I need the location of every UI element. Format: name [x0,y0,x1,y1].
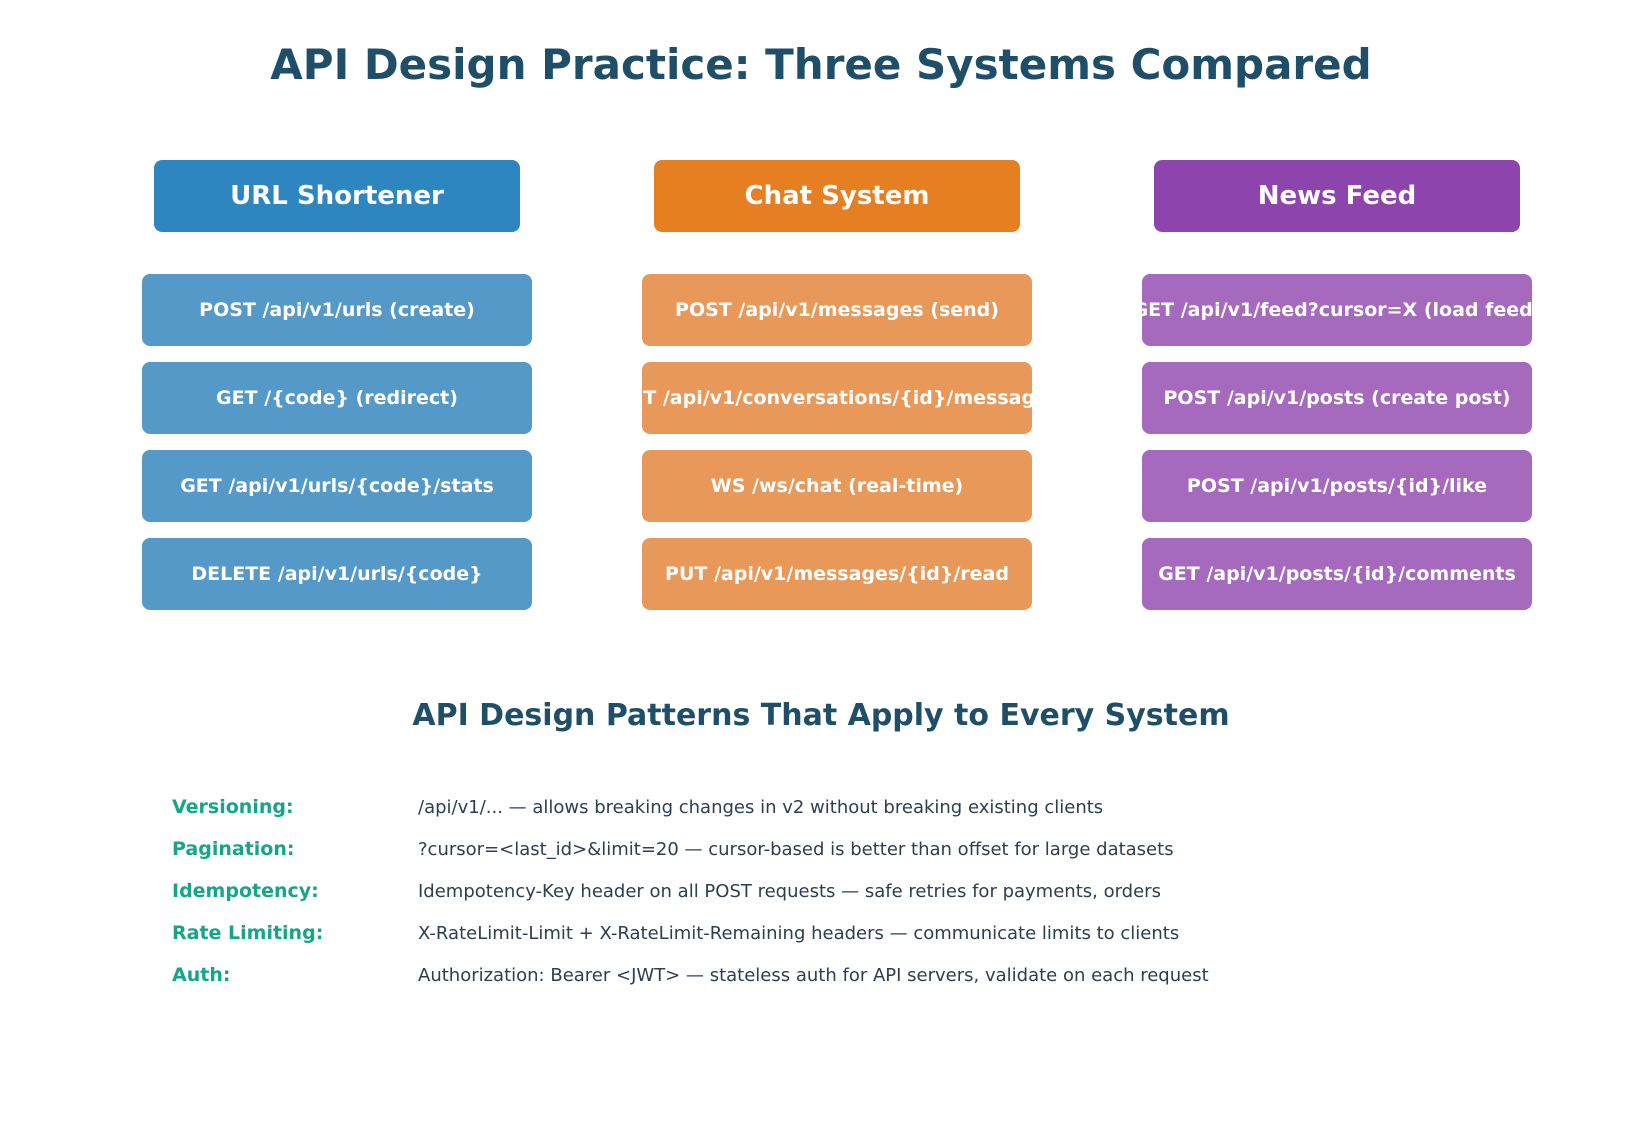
system-header-url-shortener[interactable]: URL Shortener [154,160,520,232]
endpoint-label: POST /api/v1/urls (create) [199,299,475,321]
pattern-row: Idempotency: Idempotency-Key header on a… [172,870,1472,912]
patterns-list: Versioning: /api/v1/... — allows breakin… [172,786,1472,996]
endpoint-label: GET /api/v1/urls/{code}/stats [180,475,494,497]
pattern-label: Rate Limiting: [172,922,418,944]
patterns-section-title: API Design Patterns That Apply to Every … [0,698,1642,733]
endpoint-label: GET /{code} (redirect) [216,387,458,409]
endpoint-list-chat-system: POST /api/v1/messages (send) GET /api/v1… [642,274,1032,610]
pattern-row: Versioning: /api/v1/... — allows breakin… [172,786,1472,828]
endpoint-card[interactable]: POST /api/v1/messages (send) [642,274,1032,346]
system-column-chat-system: Chat System POST /api/v1/messages (send)… [642,160,1032,610]
endpoint-label: POST /api/v1/messages (send) [675,299,999,321]
pattern-description: Idempotency-Key header on all POST reque… [418,881,1161,902]
diagram-canvas: API Design Practice: Three Systems Compa… [0,0,1642,1143]
systems-columns: URL Shortener POST /api/v1/urls (create)… [142,160,1532,610]
pattern-description: /api/v1/... — allows breaking changes in… [418,797,1103,818]
pattern-label: Idempotency: [172,880,418,902]
pattern-row: Pagination: ?cursor=<last_id>&limit=20 —… [172,828,1472,870]
endpoint-card[interactable]: POST /api/v1/urls (create) [142,274,532,346]
endpoint-card[interactable]: GET /api/v1/posts/{id}/comments [1142,538,1532,610]
endpoint-card[interactable]: GET /api/v1/feed?cursor=X (load feed) [1142,274,1532,346]
endpoint-card[interactable]: PUT /api/v1/messages/{id}/read [642,538,1032,610]
endpoint-label: DELETE /api/v1/urls/{code} [191,563,482,585]
pattern-description: X-RateLimit-Limit + X-RateLimit-Remainin… [418,923,1179,944]
system-column-url-shortener: URL Shortener POST /api/v1/urls (create)… [142,160,532,610]
endpoint-label: WS /ws/chat (real-time) [711,475,963,497]
system-column-news-feed: News Feed GET /api/v1/feed?cursor=X (loa… [1142,160,1532,610]
endpoint-card[interactable]: GET /api/v1/conversations/{id}/messages [642,362,1032,434]
endpoint-card[interactable]: POST /api/v1/posts (create post) [1142,362,1532,434]
endpoint-list-news-feed: GET /api/v1/feed?cursor=X (load feed) PO… [1142,274,1532,610]
system-header-news-feed[interactable]: News Feed [1154,160,1520,232]
endpoint-label: GET /api/v1/feed?cursor=X (load feed) [1133,299,1542,321]
endpoint-card[interactable]: WS /ws/chat (real-time) [642,450,1032,522]
endpoint-label: POST /api/v1/posts/{id}/like [1187,475,1487,497]
pattern-description: Authorization: Bearer <JWT> — stateless … [418,965,1209,986]
system-header-chat-system[interactable]: Chat System [654,160,1020,232]
endpoint-card[interactable]: POST /api/v1/posts/{id}/like [1142,450,1532,522]
pattern-label: Pagination: [172,838,418,860]
endpoint-label: PUT /api/v1/messages/{id}/read [665,563,1009,585]
pattern-label: Auth: [172,964,418,986]
endpoint-card[interactable]: DELETE /api/v1/urls/{code} [142,538,532,610]
endpoint-label: GET /api/v1/posts/{id}/comments [1158,563,1516,585]
pattern-row: Auth: Authorization: Bearer <JWT> — stat… [172,954,1472,996]
endpoint-list-url-shortener: POST /api/v1/urls (create) GET /{code} (… [142,274,532,610]
endpoint-label: POST /api/v1/posts (create post) [1163,387,1510,409]
pattern-description: ?cursor=<last_id>&limit=20 — cursor-base… [418,839,1174,860]
pattern-row: Rate Limiting: X-RateLimit-Limit + X-Rat… [172,912,1472,954]
endpoint-card[interactable]: GET /api/v1/urls/{code}/stats [142,450,532,522]
endpoint-label: GET /api/v1/conversations/{id}/messages [615,387,1060,409]
pattern-label: Versioning: [172,796,418,818]
endpoint-card[interactable]: GET /{code} (redirect) [142,362,532,434]
page-title: API Design Practice: Three Systems Compa… [0,40,1642,89]
